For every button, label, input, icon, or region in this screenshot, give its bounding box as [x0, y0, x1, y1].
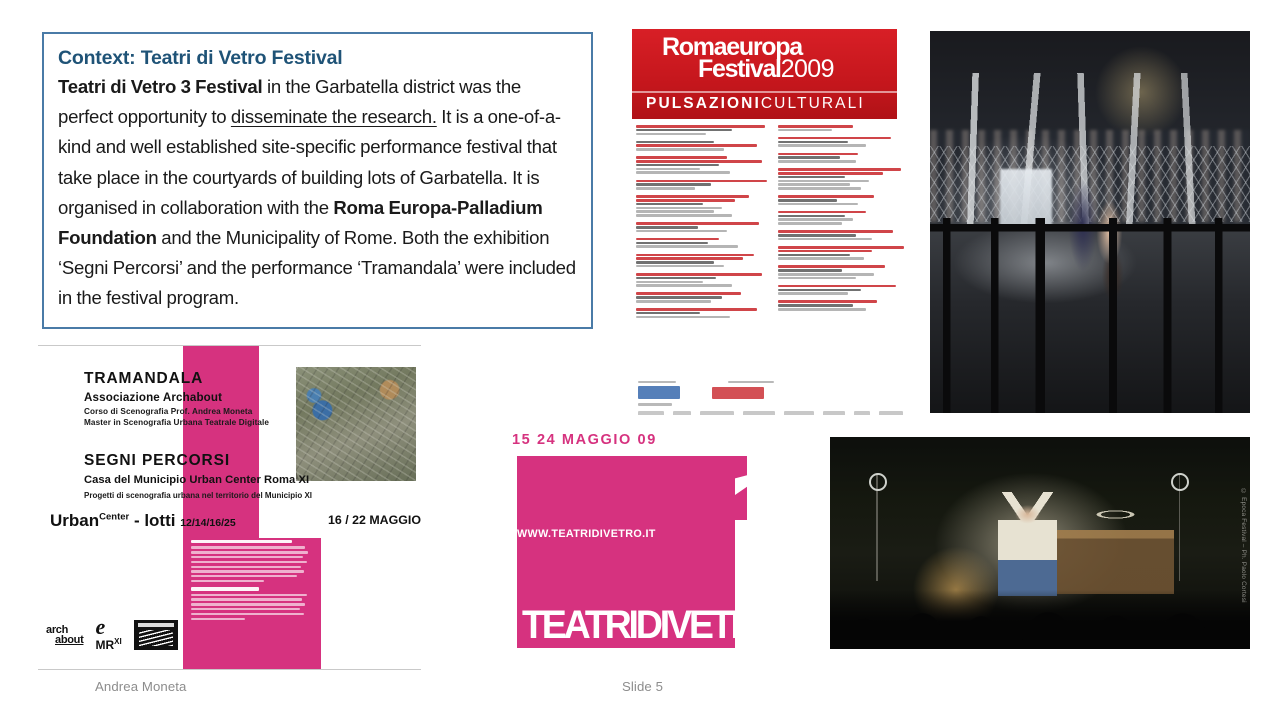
- tramandala-subtitle: Associazione Archabout: [84, 391, 222, 404]
- romaeuropa-festival-poster: Romaeuropa Festival2009 PULSAZIONICULTUR…: [630, 29, 919, 415]
- programme-entry: [778, 285, 912, 295]
- programme-entry: [636, 125, 770, 135]
- context-paragraph: Teatri di Vetro 3 Festival in the Garbat…: [58, 72, 577, 314]
- romaeuropa-festival-word: Festival: [698, 55, 781, 83]
- programme-entry: [636, 308, 770, 318]
- programme-entry: [778, 168, 912, 190]
- segni-percorsi-subtitle: Casa del Municipio Urban Center Roma XI: [84, 474, 309, 486]
- teatridivetro-website-url[interactable]: WWW.TEATRIDIVETRO.IT: [517, 528, 656, 540]
- courtyard-performance-photo: © Epoca Festival – Ph. Paolo Cortesi: [830, 437, 1250, 649]
- poster-partner-logos: arch about e MRXI: [46, 614, 186, 656]
- photo-credit: © Epoca Festival – Ph. Paolo Cortesi: [1240, 488, 1247, 603]
- programme-entry: [778, 195, 912, 205]
- programme-heading-domenica: [191, 587, 259, 590]
- context-bold-lead: Teatri di Vetro 3 Festival: [58, 76, 262, 97]
- teatridivetro-logotype: TEATRIDIVETRO: [522, 604, 757, 646]
- romaeuropa-tagline: PULSAZIONICULTURALI: [646, 95, 865, 113]
- urban-center-lots-label: UrbanCenter - lotti 12/14/16/25: [50, 511, 236, 531]
- teatri-di-vetro-poster: 15 24 MAGGIO 09 WWW.TEATRIDIVETRO.IT TEA…: [495, 428, 757, 658]
- romaeuropa-red-banner: Romaeuropa Festival2009 PULSAZIONICULTUR…: [632, 29, 897, 119]
- programme-entry: [636, 254, 770, 268]
- footer-slide-number: Slide 5: [622, 679, 663, 694]
- tramandala-course-line: Corso di Scenografia Prof. Andrea Moneta: [84, 407, 252, 416]
- programme-entry: [636, 195, 770, 217]
- sponsor-logo: [784, 411, 814, 415]
- programme-entry: [778, 230, 912, 240]
- teatridivetro-dates: 15 24 MAGGIO 09: [512, 432, 657, 448]
- segni-percorsi-description: Progetti di scenografia urbana nel terri…: [84, 491, 312, 500]
- neon-wave-sign: [1090, 509, 1140, 520]
- poster-pink-programme-text: [186, 536, 314, 664]
- tagline-culturali: CULTURALI: [761, 95, 865, 112]
- foreground-railing: [930, 218, 1250, 413]
- programme-entry: [778, 246, 912, 260]
- archabout-line2: about: [55, 635, 83, 645]
- programme-entry: [636, 141, 770, 151]
- ring-light-right: [1171, 473, 1189, 491]
- ring-light-left: [869, 473, 887, 491]
- programme-entry: [636, 273, 770, 287]
- garbatella-aerial-map-image: [296, 367, 416, 481]
- mr-xi-label: MRXI: [95, 638, 121, 652]
- sponsor-logo: [743, 411, 775, 415]
- programme-entry: [778, 153, 912, 163]
- programme-entry: [636, 180, 770, 190]
- silhouetted-audience: [830, 577, 1250, 649]
- mr-xi-logo: e MRXI: [95, 618, 121, 652]
- sponsor-logo: [854, 411, 870, 415]
- tagline-pulsazioni: PULSAZIONI: [646, 95, 761, 112]
- sponsor-logo: [879, 411, 903, 415]
- lotti-word: - lotti: [129, 511, 180, 530]
- context-heading: Context: Teatri di Vetro Festival: [58, 45, 577, 71]
- programme-entry: [778, 300, 912, 310]
- context-text-box: Context: Teatri di Vetro Festival Teatri…: [42, 32, 593, 329]
- lot-numbers: 12/14/16/25: [180, 517, 235, 529]
- programme-column-right: [778, 125, 912, 375]
- programme-column-left: [636, 125, 770, 375]
- footer-author: Andrea Moneta: [95, 679, 186, 694]
- light-stand-left: [876, 475, 878, 581]
- programme-heading-sabato: [191, 540, 292, 543]
- light-stand-right: [1179, 475, 1181, 581]
- romaeuropa-programme-listing: [636, 125, 912, 375]
- sponsor-logo: [700, 411, 734, 415]
- tramandala-segni-percorsi-poster: TRAMANDALA Associazione Archabout Corso …: [38, 345, 421, 670]
- sponsor-logo: [638, 386, 680, 399]
- sponsor-logo: [823, 411, 845, 415]
- sponsor-logo: [712, 387, 764, 399]
- tramandala-title: TRAMANDALA: [84, 370, 203, 388]
- archabout-logo: arch about: [46, 625, 83, 645]
- programme-entry: [778, 211, 912, 225]
- programme-entry: [636, 292, 770, 302]
- aerial-performance-photo: [930, 31, 1250, 413]
- programme-entry: [778, 137, 912, 147]
- romaeuropa-year: 2009: [781, 55, 834, 83]
- context-underlined-phrase: disseminate the research.: [231, 106, 437, 127]
- urban-word: Urban: [50, 511, 99, 530]
- center-word: Center: [99, 511, 129, 522]
- segni-percorsi-title: SEGNI PERCORSI: [84, 452, 230, 470]
- programme-entry: [778, 265, 912, 279]
- slide-canvas: Context: Teatri di Vetro Festival Teatri…: [0, 0, 1280, 720]
- programme-entry: [636, 222, 770, 232]
- sponsor-logo: [638, 411, 664, 415]
- programme-entry: [636, 156, 770, 174]
- scuola-scenografia-logo: [134, 620, 178, 650]
- teatridivetro-pink-block: WWW.TEATRIDIVETRO.IT TEATRIDIVETRO: [517, 456, 735, 648]
- programme-entry: [636, 238, 770, 248]
- tramandala-master-line: Master in Scenografia Urbana Teatrale Di…: [84, 418, 269, 427]
- sponsor-logo: [673, 411, 691, 415]
- programme-entry: [778, 125, 912, 131]
- romaeuropa-wordmark-line2: Festival2009: [698, 57, 834, 82]
- poster-date-range: 16 / 22 MAGGIO: [328, 513, 421, 527]
- romaeuropa-sponsor-strip: [638, 381, 908, 413]
- mr-xi-mark: e: [95, 618, 121, 635]
